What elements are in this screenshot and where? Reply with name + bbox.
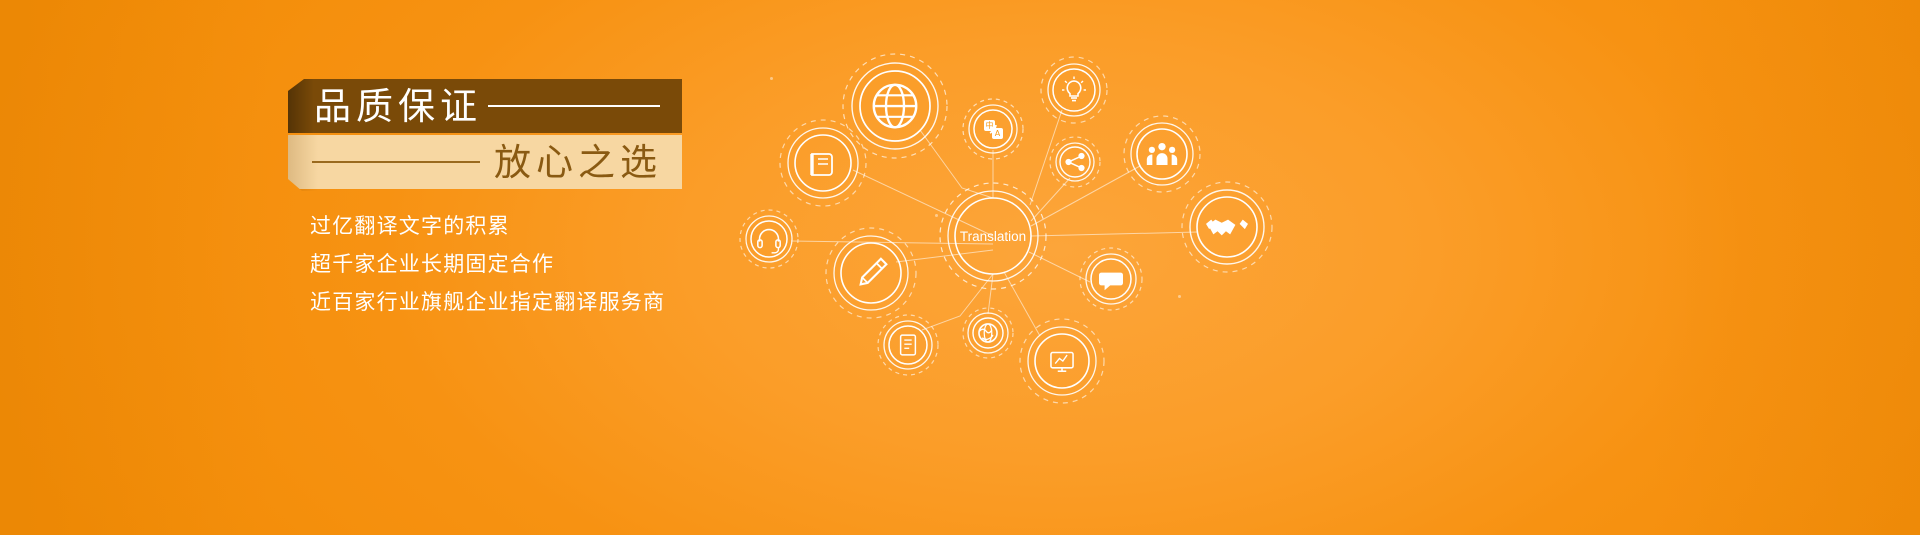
book-icon <box>812 154 832 175</box>
node-people <box>1124 116 1200 192</box>
network-svg: 中 A <box>730 0 1350 435</box>
people-icon <box>1147 143 1177 165</box>
ribbon-rule-bottom <box>312 161 480 163</box>
earth-icon <box>979 324 997 342</box>
monitor-icon <box>1051 353 1073 372</box>
node-monitor <box>1020 319 1104 403</box>
ribbon-bottom-row: 放心之选 <box>288 135 682 189</box>
translation-network-graphic: 中 A <box>730 0 1350 435</box>
translate-icon <box>984 120 1003 139</box>
headset-icon <box>758 230 780 253</box>
feature-item: 近百家行业旗舰企业指定翻译服务商 <box>310 283 665 321</box>
handshake-icon <box>1206 220 1248 236</box>
ribbon-rule-top <box>488 105 660 107</box>
banner-root: 品质保证 放心之选 过亿翻译文字的积累 超千家企业长期固定合作 近百家行业旗舰企… <box>0 0 1920 535</box>
chat-bubble-icon <box>1099 273 1123 291</box>
document-icon <box>901 335 916 355</box>
lightbulb-icon <box>1062 77 1086 101</box>
hub-label: Translation <box>960 229 1026 244</box>
ribbon-top-row: 品质保证 <box>288 79 682 133</box>
node-book <box>780 120 866 206</box>
share-nodes-icon <box>1065 153 1084 171</box>
node-handshake <box>1182 182 1272 272</box>
feature-item: 超千家企业长期固定合作 <box>310 245 665 283</box>
node-chat <box>1080 248 1142 310</box>
node-headset <box>740 210 798 268</box>
network-hub: Translation <box>940 183 1046 289</box>
node-lightbulb <box>1041 57 1107 123</box>
node-document <box>878 315 938 375</box>
node-globe <box>843 54 947 158</box>
ribbon-title-top: 品质保证 <box>314 88 482 125</box>
ribbon-banner: 品质保证 放心之选 <box>288 79 682 193</box>
feature-list: 过亿翻译文字的积累 超千家企业长期固定合作 近百家行业旗舰企业指定翻译服务商 <box>310 207 665 321</box>
ribbon-title-bottom: 放心之选 <box>494 144 662 181</box>
pencil-icon <box>861 259 887 285</box>
feature-item: 过亿翻译文字的积累 <box>310 207 665 245</box>
node-share <box>1050 137 1100 187</box>
node-earth <box>963 308 1013 358</box>
globe-icon <box>874 85 917 128</box>
